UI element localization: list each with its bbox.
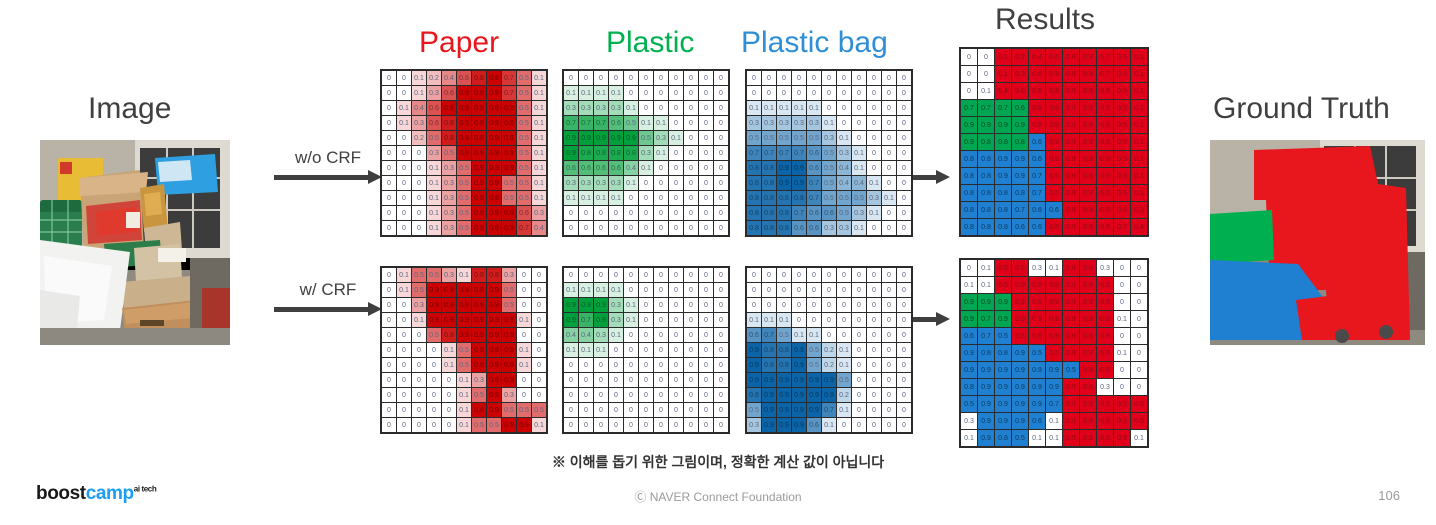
- grid-cell: 0.1: [427, 206, 441, 220]
- grid-cell: 0: [654, 298, 668, 312]
- grid-cell: 0.9: [1012, 362, 1028, 378]
- grid-cell: 0.3: [961, 413, 977, 429]
- grid-cell: 0.5: [1131, 396, 1147, 412]
- grid-cell: 0.3: [442, 191, 456, 205]
- grid-cell: 0.5: [1097, 168, 1113, 184]
- grid-cell: 0: [579, 268, 593, 282]
- grid-cell: 0: [714, 221, 728, 235]
- grid-plastic-bag-with-crf: 0000000000000000000000000000000000.10.10…: [745, 266, 913, 434]
- grid-cell: 0.5: [1046, 168, 1062, 184]
- grid-cell: 0: [382, 116, 396, 130]
- grid-cell: 0.6: [822, 206, 836, 220]
- grid-cell: 0.9: [472, 206, 486, 220]
- grid-cell: 0.5: [517, 131, 531, 145]
- grid-cell: 0: [684, 268, 698, 282]
- grid-cell: 0.1: [1029, 430, 1045, 446]
- grid-cell: 0: [714, 388, 728, 402]
- grid-cell: 0.4: [564, 328, 578, 342]
- grid-cell: 0.1: [532, 101, 546, 115]
- grid-cell: 0.9: [792, 176, 806, 190]
- grid-paper-with-crf: 00.10.50.50.30.10.80.80.30000.10.50.90.9…: [380, 266, 548, 434]
- grid-cell: 0.4: [624, 161, 638, 175]
- grid-cell: 0.9: [1097, 151, 1113, 167]
- grid-cell: 0.5: [517, 86, 531, 100]
- grid-cell: 0: [852, 283, 866, 297]
- grid-cell: 0.8: [747, 388, 761, 402]
- grid-cell: 0.9: [1097, 134, 1113, 150]
- grid-cell: 0.9: [1080, 117, 1096, 133]
- grid-cell: 0: [714, 131, 728, 145]
- grid-cell: 0.9: [792, 388, 806, 402]
- heading-paper: Paper: [419, 26, 499, 60]
- grid-cell: 0: [747, 268, 761, 282]
- grid-cell: 0.5: [502, 176, 516, 190]
- grid-cell: 0.6: [594, 161, 608, 175]
- grid-cell: 0.1: [609, 328, 623, 342]
- grid-cell: 0: [882, 343, 896, 357]
- grid-cell: 0.8: [978, 151, 994, 167]
- grid-cell: 0.1: [609, 283, 623, 297]
- grid-cell: 0.3: [867, 191, 881, 205]
- grid-cell: 0: [897, 298, 911, 312]
- grid-cell: 0: [807, 268, 821, 282]
- grid-cell: 0.3: [747, 116, 761, 130]
- grid-cell: 0: [654, 283, 668, 297]
- grid-cell: 0: [777, 283, 791, 297]
- grid-cell: 0.6: [517, 206, 531, 220]
- grid-cell: 0: [564, 221, 578, 235]
- grid-cell: 0: [382, 358, 396, 372]
- grid-cell: 0.1: [532, 176, 546, 190]
- grid-cell: 0.1: [397, 268, 411, 282]
- grid-cell: 0.9: [747, 373, 761, 387]
- grid-cell: 0.1: [564, 191, 578, 205]
- heading-plastic-bag: Plastic bag: [741, 26, 888, 60]
- grid-cell: 0: [882, 176, 896, 190]
- grid-cell: 0.9: [792, 418, 806, 432]
- heading-image: Image: [88, 92, 171, 126]
- grid-cell: 0: [427, 343, 441, 357]
- grid-cell: 0: [822, 86, 836, 100]
- grid-cell: 0: [639, 71, 653, 85]
- grid-cell: 0: [867, 373, 881, 387]
- grid-cell: 0: [882, 131, 896, 145]
- grid-cell: 0.9: [457, 298, 471, 312]
- grid-cell: 0.5: [1063, 430, 1079, 446]
- grid-cell: 0.4: [995, 83, 1011, 99]
- grid-cell: 0.3: [442, 221, 456, 235]
- grid-cell: 0.9: [1097, 311, 1113, 327]
- grid-cell: 0.9: [1029, 362, 1045, 378]
- grid-cell: 0: [532, 343, 546, 357]
- grid-cell: 0.1: [639, 161, 653, 175]
- grid-cell: 0: [822, 268, 836, 282]
- grid-cell: 0.9: [579, 131, 593, 145]
- grid-cell: 0.8: [609, 146, 623, 160]
- grid-cell: 0: [639, 191, 653, 205]
- grid-cell: 0: [897, 358, 911, 372]
- grid-cell: 0.1: [564, 86, 578, 100]
- grid-cell: 0.1: [762, 101, 776, 115]
- grid-cell: 0: [897, 418, 911, 432]
- grid-cell: 0: [684, 161, 698, 175]
- grid-cell: 0.8: [777, 191, 791, 205]
- grid-cell: 0.3: [852, 206, 866, 220]
- grid-cell: 0.8: [747, 161, 761, 175]
- input-image-photo: [40, 140, 230, 345]
- grid-cell: 0: [684, 86, 698, 100]
- grid-cell: 0.8: [442, 328, 456, 342]
- grid-results-with-crf: 00.10.50.50.30.10.80.80.3000.10.10.50.90…: [959, 258, 1149, 448]
- grid-cell: 0: [412, 343, 426, 357]
- grid-cell: 0: [684, 71, 698, 85]
- grid-cell: 0.9: [1080, 328, 1096, 344]
- grid-cell: 0.1: [669, 131, 683, 145]
- grid-cell: 0.9: [457, 86, 471, 100]
- grid-cell: 0.9: [1097, 328, 1113, 344]
- grid-cell: 0: [669, 71, 683, 85]
- grid-cell: 0.7: [517, 221, 531, 235]
- grid-cell: 0: [714, 161, 728, 175]
- grid-cell: 0.9: [1063, 83, 1079, 99]
- grid-cell: 0.3: [532, 206, 546, 220]
- grid-cell: 0.5: [502, 403, 516, 417]
- grid-cell: 0: [714, 373, 728, 387]
- grid-cell: 0.5: [1131, 413, 1147, 429]
- grid-cell: 0.1: [412, 313, 426, 327]
- grid-cell: 0: [624, 358, 638, 372]
- grid-cell: 0.8: [762, 358, 776, 372]
- grid-cell: 0.4: [852, 176, 866, 190]
- grid-cell: 0: [412, 176, 426, 190]
- grid-cell: 0.3: [762, 116, 776, 130]
- grid-cell: 0.7: [762, 146, 776, 160]
- grid-cell: 0: [564, 403, 578, 417]
- grid-cell: 0.9: [1046, 117, 1062, 133]
- grid-cell: 0: [669, 328, 683, 342]
- grid-cell: 0.9: [1080, 49, 1096, 65]
- grid-cell: 0.5: [792, 131, 806, 145]
- grid-cell: 0.3: [442, 206, 456, 220]
- grid-cell: 0: [624, 373, 638, 387]
- grid-cell: 0: [427, 388, 441, 402]
- grid-cell: 0.1: [654, 146, 668, 160]
- grid-cell: 0: [867, 146, 881, 160]
- grid-cell: 0.6: [1012, 219, 1028, 235]
- grid-cell: 0.5: [639, 131, 653, 145]
- grid-cell: 0: [714, 298, 728, 312]
- grid-cell: 0: [714, 343, 728, 357]
- grid-cell: 0.9: [1063, 117, 1079, 133]
- grid-cell: 0.3: [472, 373, 486, 387]
- grid-cell: 0: [714, 71, 728, 85]
- grid-cell: 0.9: [961, 134, 977, 150]
- grid-cell: 0.1: [837, 358, 851, 372]
- arrow-label-without-crf: w/o CRF: [274, 148, 382, 168]
- grid-cell: 0: [897, 116, 911, 130]
- grid-cell: 0.1: [397, 116, 411, 130]
- grid-cell: 0: [897, 283, 911, 297]
- grid-cell: 0: [412, 191, 426, 205]
- grid-cell: 0.1: [532, 146, 546, 160]
- grid-cell: 0.9: [1080, 134, 1096, 150]
- grid-cell: 0: [654, 161, 668, 175]
- grid-cell: 0.9: [502, 313, 516, 327]
- grid-cell: 0.5: [762, 131, 776, 145]
- grid-cell: 0.9: [472, 161, 486, 175]
- grid-cell: 0: [699, 388, 713, 402]
- grid-cell: 0.1: [639, 116, 653, 130]
- grid-cell: 0: [867, 328, 881, 342]
- grid-cell: 0.2: [822, 343, 836, 357]
- grid-cell: 0: [897, 146, 911, 160]
- grid-cell: 0.9: [564, 313, 578, 327]
- grid-cell: 0.1: [594, 283, 608, 297]
- grid-cell: 0: [699, 403, 713, 417]
- grid-cell: 0.8: [487, 268, 501, 282]
- grid-cell: 0: [609, 268, 623, 282]
- grid-cell: 0: [639, 268, 653, 282]
- grid-cell: 0: [684, 313, 698, 327]
- grid-cell: 0.9: [457, 101, 471, 115]
- grid-cell: 0.1: [624, 298, 638, 312]
- grid-cell: 0.9: [1097, 362, 1113, 378]
- grid-cell: 0.1: [1131, 83, 1147, 99]
- grid-cell: 0.9: [487, 283, 501, 297]
- grid-cell: 0: [1114, 260, 1130, 276]
- grid-cell: 0.9: [978, 379, 994, 395]
- grid-cell: 0.5: [1063, 379, 1079, 395]
- grid-cell: 0.9: [502, 101, 516, 115]
- grid-cell: 0.1: [747, 313, 761, 327]
- grid-cell: 0.9: [1114, 413, 1130, 429]
- grid-cell: 0.5: [747, 131, 761, 145]
- grid-cell: 0: [382, 71, 396, 85]
- grid-cell: 0.1: [532, 116, 546, 130]
- grid-cell: 0.9: [472, 328, 486, 342]
- grid-cell: 0.6: [1029, 66, 1045, 82]
- grid-cell: 0.6: [792, 221, 806, 235]
- grid-cell: 0.1: [457, 403, 471, 417]
- grid-cell: 0: [564, 373, 578, 387]
- grid-cell: 0.1: [747, 101, 761, 115]
- grid-cell: 0: [609, 71, 623, 85]
- grid-cell: 0: [412, 388, 426, 402]
- grid-cell: 0: [517, 298, 531, 312]
- grid-cell: 0: [822, 328, 836, 342]
- grid-cell: 0.9: [995, 396, 1011, 412]
- grid-cell: 0.6: [609, 161, 623, 175]
- grid-cell: 0: [897, 403, 911, 417]
- grid-cell: 0: [397, 161, 411, 175]
- grid-cell: 0.9: [762, 373, 776, 387]
- grid-cell: 0.7: [792, 146, 806, 160]
- grid-cell: 0: [397, 221, 411, 235]
- grid-cell: 0.3: [427, 86, 441, 100]
- grid-cell: 0: [822, 298, 836, 312]
- grid-cell: 0: [684, 131, 698, 145]
- grid-cell: 0: [669, 373, 683, 387]
- grid-cell: 0: [747, 283, 761, 297]
- grid-cell: 0.5: [1046, 185, 1062, 201]
- grid-cell: 0: [897, 101, 911, 115]
- grid-cell: 0: [532, 313, 546, 327]
- grid-cell: 0: [639, 328, 653, 342]
- grid-cell: 0.8: [762, 221, 776, 235]
- grid-cell: 0: [852, 388, 866, 402]
- grid-cell: 0.6: [807, 161, 821, 175]
- grid-cell: 0: [1131, 311, 1147, 327]
- grid-cell: 0: [882, 161, 896, 175]
- grid-cell: 0.9: [762, 418, 776, 432]
- grid-cell: 0: [654, 71, 668, 85]
- grid-cell: 0: [639, 313, 653, 327]
- grid-cell: 0: [897, 313, 911, 327]
- grid-cell: 0.6: [807, 221, 821, 235]
- grid-cell: 0.1: [517, 358, 531, 372]
- grid-cell: 0.9: [1080, 396, 1096, 412]
- grid-cell: 0: [699, 176, 713, 190]
- grid-cell: 0: [442, 373, 456, 387]
- grid-cell: 0: [1114, 294, 1130, 310]
- grid-cell: 0.3: [792, 116, 806, 130]
- grid-cell: 0: [654, 403, 668, 417]
- grid-cell: 0.1: [442, 343, 456, 357]
- grid-cell: 0: [897, 268, 911, 282]
- grid-cell: 0.1: [852, 221, 866, 235]
- grid-cell: 0.9: [995, 413, 1011, 429]
- grid-cell: 0.5: [412, 283, 426, 297]
- arrow-shaft-with-crf: [274, 302, 382, 316]
- grid-cell: 0.6: [1029, 413, 1045, 429]
- grid-cell: 0.9: [1080, 294, 1096, 310]
- grid-cell: 0.9: [978, 117, 994, 133]
- grid-cell: 0.9: [792, 358, 806, 372]
- grid-cell: 0: [382, 313, 396, 327]
- grid-cell: 0.9: [472, 298, 486, 312]
- grid-cell: 0: [822, 101, 836, 115]
- grid-cell: 0: [867, 418, 881, 432]
- grid-cell: 0.9: [777, 373, 791, 387]
- grid-cell: 0.1: [457, 418, 471, 432]
- grid-cell: 0: [867, 116, 881, 130]
- grid-cell: 0.5: [517, 116, 531, 130]
- grid-cell: 0: [609, 403, 623, 417]
- grid-cell: 0.3: [822, 131, 836, 145]
- grid-cell: 0: [397, 418, 411, 432]
- grid-cell: 0: [684, 283, 698, 297]
- grid-cell: 0: [807, 298, 821, 312]
- grid-cell: 0.8: [978, 345, 994, 361]
- grid-cell: 0: [882, 403, 896, 417]
- grid-cell: 0.6: [609, 116, 623, 130]
- grid-cell: 0.1: [1131, 168, 1147, 184]
- grid-cell: 0.5: [995, 260, 1011, 276]
- grid-cell: 0: [1131, 294, 1147, 310]
- grid-cell: 0.9: [1063, 345, 1079, 361]
- grid-cell: 0: [517, 283, 531, 297]
- grid-cell: 0.6: [747, 328, 761, 342]
- grid-cell: 0.9: [747, 343, 761, 357]
- grid-cell: 0.9: [487, 191, 501, 205]
- grid-cell: 0: [714, 328, 728, 342]
- grid-cell: 0: [382, 206, 396, 220]
- grid-cell: 0: [517, 268, 531, 282]
- grid-cell: 0.1: [457, 268, 471, 282]
- grid-cell: 0.9: [502, 328, 516, 342]
- grid-cell: 0.9: [1063, 100, 1079, 116]
- grid-cell: 0: [624, 86, 638, 100]
- grid-cell: 0: [1131, 345, 1147, 361]
- grid-cell: 0.1: [457, 388, 471, 402]
- grid-cell: 0.6: [961, 328, 977, 344]
- grid-cell: 0.9: [502, 146, 516, 160]
- grid-cell: 0: [669, 418, 683, 432]
- grid-cell: 0: [837, 71, 851, 85]
- grid-cell: 0.9: [1080, 100, 1096, 116]
- grid-cell: 0: [382, 298, 396, 312]
- grid-cell: 0.3: [1097, 379, 1113, 395]
- grid-cell: 0.9: [1097, 202, 1113, 218]
- grid-cell: 0.7: [807, 191, 821, 205]
- grid-cell: 0: [654, 373, 668, 387]
- grid-cell: 0.9: [472, 191, 486, 205]
- grid-cell: 0: [684, 343, 698, 357]
- grid-cell: 0: [699, 221, 713, 235]
- grid-cell: 0.9: [978, 430, 994, 446]
- grid-cell: 0: [594, 403, 608, 417]
- grid-cell: 0.5: [807, 131, 821, 145]
- grid-cell: 0.1: [579, 283, 593, 297]
- grid-cell: 0.5: [1114, 185, 1130, 201]
- grid-cell: 0.9: [807, 403, 821, 417]
- grid-cell: 0: [882, 268, 896, 282]
- grid-cell: 0.1: [457, 373, 471, 387]
- grid-cell: 0: [852, 313, 866, 327]
- grid-cell: 0.5: [995, 277, 1011, 293]
- grid-cell: 0.9: [1012, 168, 1028, 184]
- grid-plastic-with-crf: 000000000000.10.10.10.100000000.90.90.90…: [562, 266, 730, 434]
- grid-cell: 0.9: [1012, 396, 1028, 412]
- grid-cell: 0: [564, 71, 578, 85]
- grid-cell: 0: [867, 86, 881, 100]
- grid-cell: 0.5: [1012, 328, 1028, 344]
- grid-cell: 0: [532, 283, 546, 297]
- grid-cell: 0: [654, 221, 668, 235]
- grid-cell: 0.3: [594, 328, 608, 342]
- grid-cell: 0.9: [777, 403, 791, 417]
- grid-cell: 0.9: [822, 388, 836, 402]
- grid-cell: 0: [867, 268, 881, 282]
- grid-cell: 0: [624, 418, 638, 432]
- grid-cell: 0: [699, 206, 713, 220]
- grid-cell: 0: [882, 358, 896, 372]
- grid-cell: 0.9: [1046, 100, 1062, 116]
- grid-cell: 0.9: [442, 283, 456, 297]
- grid-cell: 0.4: [532, 221, 546, 235]
- grid-cell: 0.9: [1097, 430, 1113, 446]
- grid-cell: 0.3: [747, 418, 761, 432]
- grid-cell: 0.9: [487, 373, 501, 387]
- grid-cell: 0.6: [1114, 202, 1130, 218]
- grid-cell: 0.8: [442, 116, 456, 130]
- grid-cell: 0.5: [517, 161, 531, 175]
- grid-cell: 0: [1131, 277, 1147, 293]
- grid-cell: 0.9: [502, 373, 516, 387]
- grid-cell: 0.8: [1063, 49, 1079, 65]
- grid-cell: 0: [654, 388, 668, 402]
- grid-cell: 0.7: [807, 176, 821, 190]
